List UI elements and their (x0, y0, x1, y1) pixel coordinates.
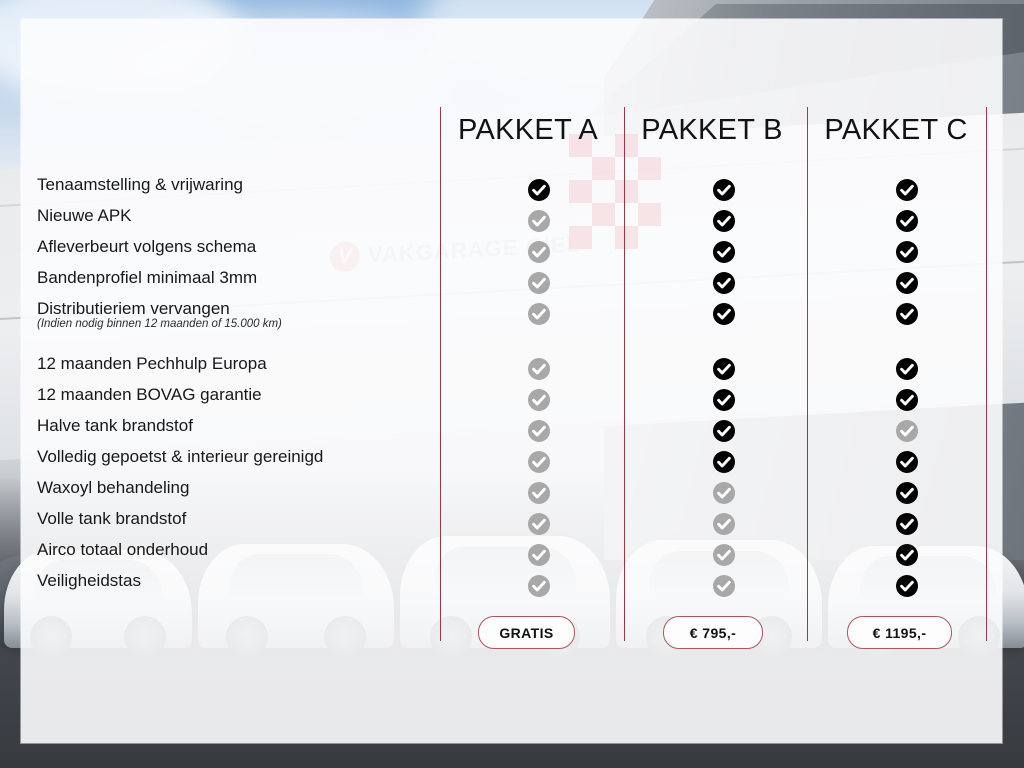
check-excluded-icon (528, 513, 550, 535)
check-included-icon (896, 179, 918, 201)
check-excluded-icon (528, 389, 550, 411)
check-excluded-icon (528, 575, 550, 597)
feature-label: Waxoyl behandeling (37, 478, 189, 498)
feature-label: Volle tank brandstof (37, 509, 186, 529)
column-header-pakket-b: PAKKET B (624, 114, 800, 147)
check-excluded-icon (528, 544, 550, 566)
comparison-card: PAKKET A PAKKET B PAKKET C Tenaamstellin… (21, 19, 1002, 743)
column-header-pakket-c: PAKKET C (808, 114, 984, 147)
check-included-icon (896, 241, 918, 263)
column-divider (440, 107, 441, 641)
check-excluded-icon (713, 482, 735, 504)
feature-label: Veiligheidstas (37, 571, 141, 591)
check-included-icon (713, 420, 735, 442)
feature-label: 12 maanden Pechhulp Europa (37, 354, 267, 374)
check-excluded-icon (528, 358, 550, 380)
feature-label: Distributieriem vervangen (37, 299, 230, 319)
price-pill-pakket-b[interactable]: € 795,- (663, 616, 763, 649)
check-included-icon (713, 179, 735, 201)
check-excluded-icon (528, 420, 550, 442)
column-divider (986, 107, 987, 641)
check-included-icon (896, 389, 918, 411)
check-included-icon (713, 389, 735, 411)
check-excluded-icon (528, 303, 550, 325)
feature-label: Afleverbeurt volgens schema (37, 237, 256, 257)
package-comparison-grid: PAKKET A PAKKET B PAKKET C Tenaamstellin… (21, 19, 1002, 743)
check-included-icon (528, 179, 550, 201)
check-included-icon (896, 303, 918, 325)
check-included-icon (713, 272, 735, 294)
check-excluded-icon (713, 575, 735, 597)
check-included-icon (896, 575, 918, 597)
feature-label: Airco totaal onderhoud (37, 540, 208, 560)
check-included-icon (896, 451, 918, 473)
check-included-icon (713, 358, 735, 380)
check-included-icon (896, 482, 918, 504)
check-included-icon (896, 544, 918, 566)
feature-label: Bandenprofiel minimaal 3mm (37, 268, 257, 288)
check-excluded-icon (528, 482, 550, 504)
feature-label: Halve tank brandstof (37, 416, 193, 436)
feature-note: (Indien nodig binnen 12 maanden of 15.00… (37, 318, 282, 330)
check-excluded-icon (528, 451, 550, 473)
check-included-icon (713, 451, 735, 473)
check-excluded-icon (528, 241, 550, 263)
check-included-icon (713, 303, 735, 325)
check-included-icon (896, 358, 918, 380)
price-pill-pakket-c[interactable]: € 1195,- (847, 616, 952, 649)
check-excluded-icon (713, 544, 735, 566)
feature-label: Volledig gepoetst & interieur gereinigd (37, 447, 323, 467)
feature-label: Tenaamstelling & vrijwaring (37, 175, 243, 195)
check-excluded-icon (528, 272, 550, 294)
column-header-pakket-a: PAKKET A (440, 114, 616, 147)
check-excluded-icon (528, 210, 550, 232)
price-pill-pakket-a[interactable]: GRATIS (478, 616, 575, 649)
column-divider (807, 107, 808, 641)
check-excluded-icon (713, 513, 735, 535)
check-included-icon (713, 241, 735, 263)
check-included-icon (896, 513, 918, 535)
feature-label: 12 maanden BOVAG garantie (37, 385, 262, 405)
check-included-icon (896, 210, 918, 232)
check-included-icon (713, 210, 735, 232)
column-divider (624, 107, 625, 641)
check-included-icon (896, 272, 918, 294)
check-excluded-icon (896, 420, 918, 442)
feature-label: Nieuwe APK (37, 206, 132, 226)
